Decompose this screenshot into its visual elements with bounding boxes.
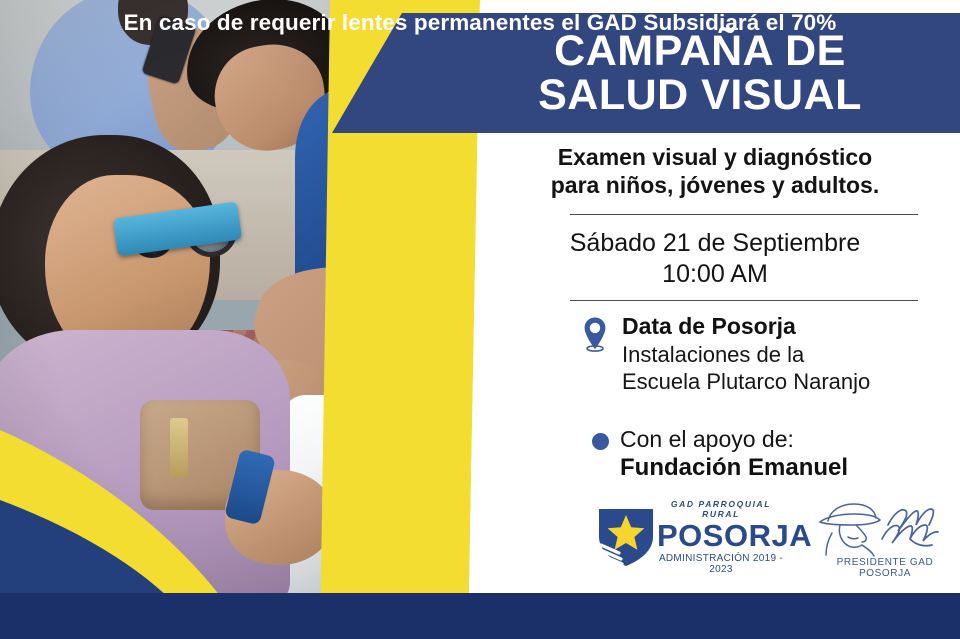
location-title: Data de Posorja bbox=[622, 313, 960, 341]
subtitle-line-2: para niños, jóvenes y adultos. bbox=[470, 171, 960, 199]
posorja-main-text: POSORJA bbox=[657, 520, 785, 551]
bottom-banner-text: En caso de requerir lentes permanentes e… bbox=[0, 0, 960, 46]
location-block: Data de Posorja Instalaciones de la Escu… bbox=[582, 313, 960, 396]
posorja-wordmark: GAD PARROQUIAL RURAL POSORJA ADMINISTRAC… bbox=[657, 499, 785, 575]
poster-root: CAMPAÑA DE SALUD VISUAL Examen visual y … bbox=[0, 0, 960, 639]
logo-row: GAD PARROQUIAL RURAL POSORJA ADMINISTRAC… bbox=[470, 495, 960, 587]
divider-top bbox=[570, 214, 918, 215]
support-text: Con el apoyo de: Fundación Emanuel bbox=[620, 425, 960, 482]
map-pin-icon bbox=[582, 316, 608, 352]
president-caption: PRESIDENTE GAD POSORJA bbox=[810, 557, 960, 579]
logo-president: PRESIDENTE GAD POSORJA bbox=[810, 495, 960, 581]
location-text: Data de Posorja Instalaciones de la Escu… bbox=[622, 313, 960, 396]
location-line-1: Instalaciones de la bbox=[622, 341, 960, 369]
subtitle-block: Examen visual y diagnóstico para niños, … bbox=[470, 143, 960, 199]
support-organization: Fundación Emanuel bbox=[620, 453, 960, 482]
man-with-hat-portrait-icon bbox=[810, 495, 960, 557]
posorja-top-text: GAD PARROQUIAL RURAL bbox=[657, 499, 785, 519]
event-date: Sábado 21 de Septiembre bbox=[470, 228, 960, 259]
divider-bottom bbox=[570, 300, 918, 301]
datetime-block: Sábado 21 de Septiembre 10:00 AM bbox=[470, 228, 960, 291]
location-line-2: Escuela Plutarco Naranjo bbox=[622, 368, 960, 396]
support-block: Con el apoyo de: Fundación Emanuel bbox=[592, 425, 960, 482]
posorja-sub-text: ADMINISTRACIÓN 2019 - 2023 bbox=[657, 553, 785, 575]
event-time: 10:00 AM bbox=[470, 259, 960, 290]
bottom-banner bbox=[0, 593, 960, 639]
title-line-2: SALUD VISUAL bbox=[538, 74, 862, 118]
bullet-dot-icon bbox=[592, 433, 609, 450]
subtitle-line-1: Examen visual y diagnóstico bbox=[470, 143, 960, 171]
shield-star-icon bbox=[595, 503, 657, 569]
support-label: Con el apoyo de: bbox=[620, 425, 960, 453]
logo-gad-posorja: GAD PARROQUIAL RURAL POSORJA ADMINISTRAC… bbox=[595, 497, 785, 581]
